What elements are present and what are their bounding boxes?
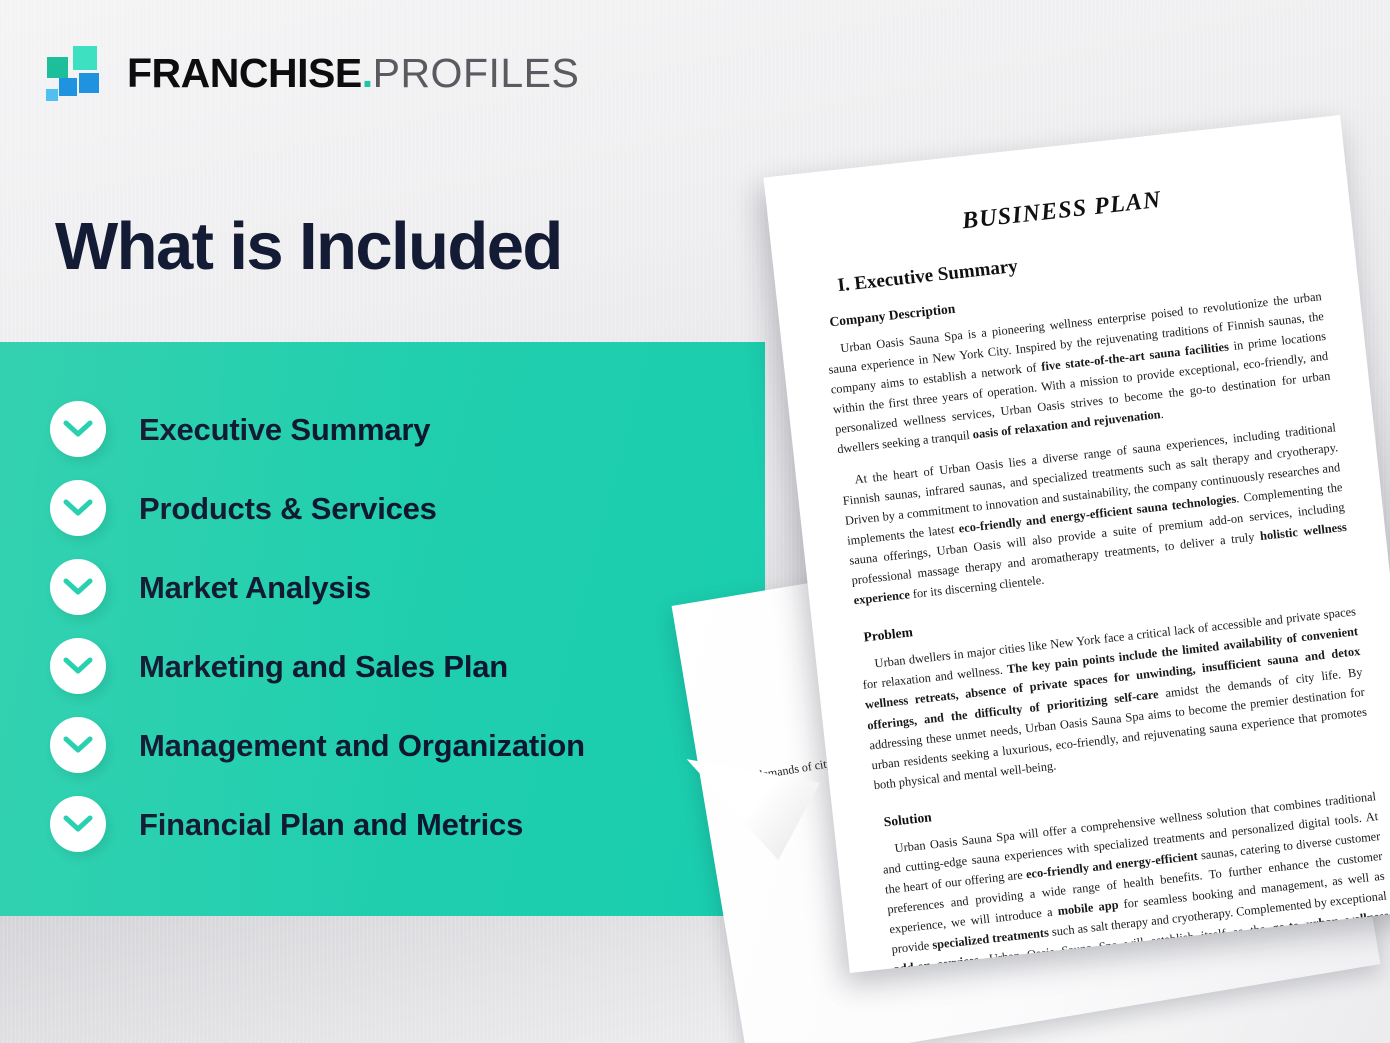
list-item[interactable]: Financial Plan and Metrics xyxy=(50,794,750,854)
business-plan-document-stack: by exceptional urban wellness demands of… xyxy=(690,120,1390,1043)
logo-square-blue-medium xyxy=(59,78,77,96)
chevron-down-icon[interactable] xyxy=(50,796,106,852)
logo-square-blue-small xyxy=(46,89,58,101)
included-items-list: Executive Summary Products & Services Ma… xyxy=(50,399,750,854)
list-item[interactable]: Marketing and Sales Plan xyxy=(50,636,750,696)
brand-logo[interactable]: FRANCHISE . PROFILES xyxy=(45,42,579,104)
chevron-down-icon[interactable] xyxy=(50,480,106,536)
brand-name-dot: . xyxy=(362,53,373,94)
page-title: What is Included xyxy=(55,212,562,282)
list-item[interactable]: Products & Services xyxy=(50,478,750,538)
list-item[interactable]: Management and Organization xyxy=(50,715,750,775)
text-run-bold: mobile app xyxy=(1057,898,1119,919)
list-item-label: Marketing and Sales Plan xyxy=(139,651,508,682)
list-item-label: Market Analysis xyxy=(139,572,371,603)
brand-wordmark: FRANCHISE . PROFILES xyxy=(127,53,579,94)
logo-square-teal-large xyxy=(73,46,97,70)
chevron-down-icon[interactable] xyxy=(50,401,106,457)
list-item[interactable]: Executive Summary xyxy=(50,399,750,459)
list-item-label: Products & Services xyxy=(139,493,437,524)
text-run: . xyxy=(1160,407,1165,421)
list-item-label: Executive Summary xyxy=(139,414,430,445)
brand-name-primary: FRANCHISE xyxy=(127,53,362,94)
brand-name-secondary: PROFILES xyxy=(373,53,580,94)
included-items-panel: Executive Summary Products & Services Ma… xyxy=(0,342,765,916)
list-item-label: Financial Plan and Metrics xyxy=(139,809,523,840)
logo-square-teal-medium xyxy=(47,57,68,78)
chevron-down-icon[interactable] xyxy=(50,717,106,773)
squares-logo-mark xyxy=(45,45,107,101)
logo-square-blue-large xyxy=(79,73,99,93)
document-page-front: BUSINESS PLAN I. Executive Summary Compa… xyxy=(763,115,1390,973)
chevron-down-icon[interactable] xyxy=(50,559,106,615)
list-item-label: Management and Organization xyxy=(139,730,585,761)
list-item[interactable]: Market Analysis xyxy=(50,557,750,617)
chevron-down-icon[interactable] xyxy=(50,638,106,694)
